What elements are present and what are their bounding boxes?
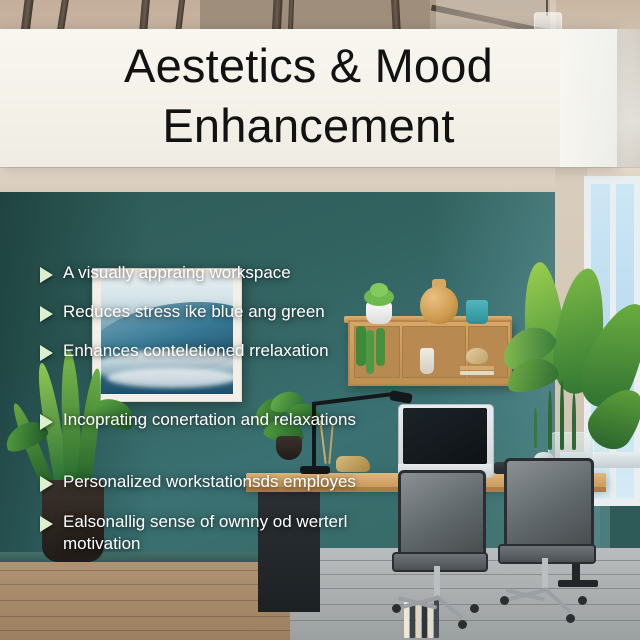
bullet-text-5: Personalized workstationsds employes (63, 471, 356, 493)
bullet-text-6: Ealsonallig sense of ownny od werterl mo… (63, 511, 393, 555)
bullet-item-5: Personalized workstationsds employes (40, 471, 460, 493)
slide-title: Aestetics & Mood Enhancement (0, 36, 617, 156)
bullet-list: A visually appraing workspace Reduces st… (40, 262, 460, 572)
slide-canvas: Aestetics & Mood Enhancement A visually … (0, 0, 640, 640)
bullet-text-2: Reduces stress ike blue ang green (63, 301, 325, 323)
triangle-bullet-icon (40, 267, 53, 283)
triangle-bullet-icon (40, 345, 53, 361)
shell-decor (466, 348, 488, 364)
bullet-item-3: Enhances conteletioned rrelaxation (40, 340, 460, 362)
bullet-item-2: Reduces stress ike blue ang green (40, 301, 460, 323)
triangle-bullet-icon (40, 306, 53, 322)
teal-cup (466, 300, 488, 324)
bullet-text-1: A visually appraing workspace (63, 262, 291, 284)
bullet-text-3: Enhances conteletioned rrelaxation (63, 340, 329, 362)
triangle-bullet-icon (40, 516, 53, 532)
bullet-item-1: A visually appraing workspace (40, 262, 460, 284)
bullet-item-4: Incoprating conertation and relaxations (40, 409, 460, 431)
triangle-bullet-icon (40, 414, 53, 430)
bullet-text-4: Incoprating conertation and relaxations (63, 409, 356, 431)
bullet-item-6: Ealsonallig sense of ownny od werterl mo… (40, 511, 460, 555)
triangle-bullet-icon (40, 476, 53, 492)
